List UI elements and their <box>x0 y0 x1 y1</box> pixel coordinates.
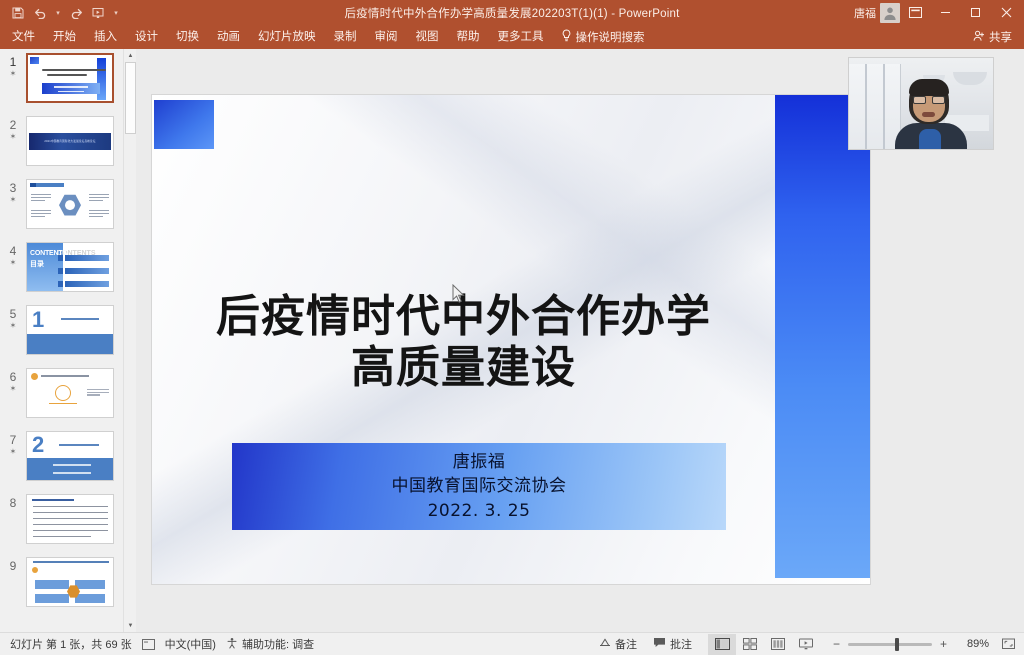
thumbnail-image <box>26 368 114 418</box>
thumbnail-star-icon: ✶ <box>0 69 26 78</box>
slide-thumbnails-pane[interactable]: 1 ✶ 2 ✶ 2021中国教育国际化大发展论坛高峰论坛 3 ✶ <box>0 49 136 632</box>
powerpoint-window: ▾ ▾ 后疫情时代中外合作办学高质量发展202203T(1)(1) - Powe… <box>0 0 1024 655</box>
zoom-out-button[interactable]: − <box>830 637 843 651</box>
thumbnail-image <box>26 53 114 103</box>
slide-sorter-view-button[interactable] <box>736 634 764 655</box>
window-background-icon <box>849 64 901 150</box>
quick-access-more-icon[interactable]: ▾ <box>110 9 122 17</box>
subtitle-organization: 中国教育国际交流协会 <box>392 474 567 498</box>
thumbnail-image: 1 <box>26 305 114 355</box>
zoom-in-button[interactable]: + <box>937 637 950 651</box>
menu-item-record[interactable]: 录制 <box>325 25 366 49</box>
redo-icon[interactable] <box>66 3 86 23</box>
menu-item-more-tools[interactable]: 更多工具 <box>489 25 553 49</box>
decorative-vertical-bar <box>775 95 870 578</box>
zoom-percent-label[interactable]: 89% <box>955 638 989 650</box>
view-mode-buttons <box>708 634 820 655</box>
menu-item-transitions[interactable]: 切换 <box>167 25 208 49</box>
reading-view-button[interactable] <box>764 634 792 655</box>
title-bar: ▾ ▾ 后疫情时代中外合作办学高质量发展202203T(1)(1) - Powe… <box>0 0 1024 25</box>
thumbnails-scrollbar[interactable]: ▲ ▼ <box>123 49 136 632</box>
accessibility-icon <box>226 637 238 652</box>
undo-icon[interactable] <box>30 3 50 23</box>
zoom-slider[interactable] <box>848 643 932 646</box>
share-label: 共享 <box>989 29 1012 45</box>
scroll-down-icon[interactable]: ▼ <box>124 619 136 632</box>
comment-icon <box>653 637 666 651</box>
thumbnail-image <box>26 179 114 229</box>
quick-access-toolbar: ▾ ▾ <box>0 3 122 23</box>
tell-me-search[interactable]: 操作说明搜索 <box>553 29 645 45</box>
status-bar: 幻灯片 第 1 张，共 69 张 中文(中国) 辅助功能: 调查 备注 <box>0 632 1024 655</box>
slide-layout-icon[interactable] <box>142 639 155 650</box>
thumbnail-image <box>26 494 114 544</box>
close-button[interactable] <box>990 0 1022 25</box>
zoom-control[interactable]: − + 89% <box>830 634 1018 654</box>
thumbnail-number: 6 <box>0 368 26 384</box>
menu-item-home[interactable]: 开始 <box>44 25 85 49</box>
thumbnail-star-icon: ✶ <box>0 384 26 393</box>
thumbnail-number: 1 <box>0 53 26 69</box>
accessibility-label: 辅助功能: 调查 <box>242 636 314 652</box>
avatar[interactable] <box>880 3 900 23</box>
thumbnail-slide-7[interactable]: 7 ✶ 2 <box>0 431 136 494</box>
thumbnail-band-text: 2021中国教育国际化大发展论坛高峰论坛 <box>29 133 111 150</box>
thumbnail-slide-5[interactable]: 5 ✶ 1 <box>0 305 136 368</box>
menu-item-help[interactable]: 帮助 <box>448 25 489 49</box>
menu-item-file[interactable]: 文件 <box>0 25 44 49</box>
thumbnail-slide-8[interactable]: 8 <box>0 494 136 557</box>
language-indicator[interactable]: 中文(中国) <box>165 636 216 652</box>
workspace: 1 ✶ 2 ✶ 2021中国教育国际化大发展论坛高峰论坛 3 ✶ <box>0 49 1024 632</box>
maximize-button[interactable] <box>960 0 990 25</box>
menu-item-design[interactable]: 设计 <box>126 25 167 49</box>
notes-button[interactable]: 备注 <box>591 634 645 655</box>
thumbnail-image <box>26 557 114 607</box>
save-icon[interactable] <box>8 3 28 23</box>
comments-label: 批注 <box>670 636 692 652</box>
thumbnail-number: 3 <box>0 179 26 195</box>
notes-icon <box>599 637 611 651</box>
thumbnail-slide-2[interactable]: 2 ✶ 2021中国教育国际化大发展论坛高峰论坛 <box>0 116 136 179</box>
slide-title-line-2: 高质量建设 <box>152 342 775 393</box>
current-slide[interactable]: 后疫情时代中外合作办学 高质量建设 唐振福 中国教育国际交流协会 2022. 3… <box>152 95 870 584</box>
thumbnail-star-icon: ✶ <box>0 321 26 330</box>
zoom-slider-handle[interactable] <box>895 638 899 651</box>
menu-item-review[interactable]: 审阅 <box>366 25 407 49</box>
thumbnail-slide-6[interactable]: 6 ✶ <box>0 368 136 431</box>
menu-item-insert[interactable]: 插入 <box>85 25 126 49</box>
thumbnail-slide-3[interactable]: 3 ✶ <box>0 179 136 242</box>
ribbon-display-options-button[interactable] <box>900 0 930 25</box>
thumbnail-number: 5 <box>0 305 26 321</box>
share-person-icon <box>973 30 985 45</box>
slide-show-button[interactable] <box>792 634 820 655</box>
menu-item-slideshow[interactable]: 幻灯片放映 <box>249 25 325 49</box>
decorative-square-icon <box>154 100 214 149</box>
subtitle-date: 2022. 3. 25 <box>428 499 531 523</box>
thumbnail-big-number: 2 <box>32 434 44 456</box>
share-button[interactable]: 共享 <box>973 29 1024 45</box>
accessibility-status[interactable]: 辅助功能: 调查 <box>226 636 314 652</box>
thumbnail-number: 2 <box>0 116 26 132</box>
account-name[interactable]: 唐福 <box>854 5 880 21</box>
undo-dropdown-icon[interactable]: ▾ <box>52 9 64 17</box>
thumbnail-number: 4 <box>0 242 26 258</box>
thumbnail-slide-4[interactable]: 4 ✶ CONTENTS CONTENTS 目录 <box>0 242 136 305</box>
thumbnail-number: 8 <box>0 494 26 510</box>
menu-item-view[interactable]: 视图 <box>407 25 448 49</box>
fit-slide-to-window-button[interactable] <box>998 634 1018 654</box>
slide-subtitle-box[interactable]: 唐振福 中国教育国际交流协会 2022. 3. 25 <box>232 443 726 530</box>
thumbnail-star-icon: ✶ <box>0 447 26 456</box>
lightbulb-icon <box>561 29 572 45</box>
menu-item-animations[interactable]: 动画 <box>208 25 249 49</box>
thumbnail-star-icon: ✶ <box>0 258 26 267</box>
thumbnail-image: 2021中国教育国际化大发展论坛高峰论坛 <box>26 116 114 166</box>
tell-me-label: 操作说明搜索 <box>576 29 645 45</box>
thumbnail-image: CONTENTS CONTENTS 目录 <box>26 242 114 292</box>
subtitle-presenter: 唐振福 <box>453 450 506 474</box>
notes-label: 备注 <box>615 636 637 652</box>
menu-bar: 文件 开始 插入 设计 切换 动画 幻灯片放映 录制 审阅 视图 帮助 更多工具… <box>0 25 1024 49</box>
thumbnail-number: 9 <box>0 557 26 573</box>
normal-view-button[interactable] <box>708 634 736 655</box>
comments-button[interactable]: 批注 <box>645 634 700 655</box>
thumbnail-big-number: 1 <box>32 309 44 331</box>
slide-title[interactable]: 后疫情时代中外合作办学 高质量建设 <box>152 291 775 394</box>
thumbnail-contents-cn: 目录 <box>30 259 44 269</box>
thumbnail-slide-9[interactable]: 9 <box>0 557 136 620</box>
video-call-overlay[interactable] <box>848 57 994 150</box>
thumbnail-number: 7 <box>0 431 26 447</box>
thumbnail-star-icon: ✶ <box>0 195 26 204</box>
scroll-up-icon[interactable]: ▲ <box>124 49 136 62</box>
thumbnail-star-icon: ✶ <box>0 132 26 141</box>
slide-counter[interactable]: 幻灯片 第 1 张，共 69 张 <box>10 636 132 652</box>
title-bar-right: 唐福 <box>854 0 1024 25</box>
thumbnail-image: 2 <box>26 431 114 481</box>
thumbnail-slide-1[interactable]: 1 ✶ <box>0 53 136 116</box>
slide-editing-area[interactable]: 后疫情时代中外合作办学 高质量建设 唐振福 中国教育国际交流协会 2022. 3… <box>136 49 1024 632</box>
start-from-beginning-icon[interactable] <box>88 3 108 23</box>
scrollbar-thumb[interactable] <box>125 62 136 134</box>
mouse-cursor-icon <box>452 284 466 304</box>
minimize-button[interactable] <box>930 0 960 25</box>
